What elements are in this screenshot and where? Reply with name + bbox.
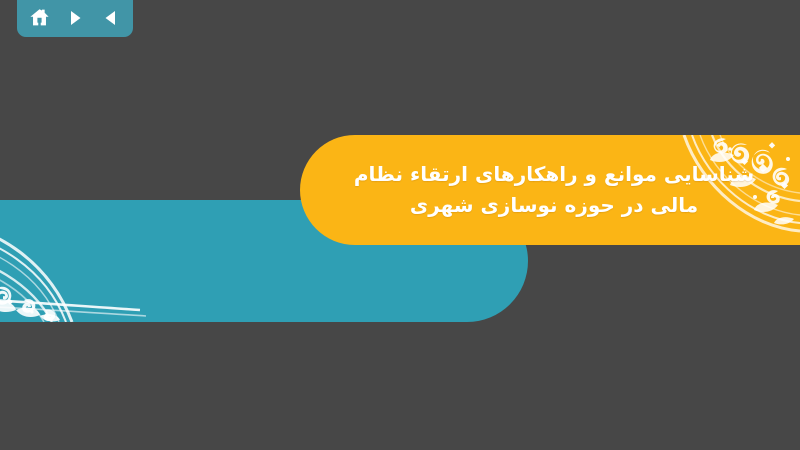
home-icon [29, 7, 50, 28]
previous-slide-button[interactable] [98, 5, 124, 31]
home-button[interactable] [26, 5, 52, 31]
forward-arrow-icon [66, 9, 84, 27]
arabesque-floral-ornament [0, 200, 170, 322]
back-arrow-icon [102, 9, 120, 27]
presentation-slide: شناسایی موانع و راهکارهای ارتقاء نظام ما… [0, 0, 800, 450]
next-slide-button[interactable] [62, 5, 88, 31]
slide-title-block: شناسایی موانع و راهکارهای ارتقاء نظام ما… [300, 135, 800, 245]
title-line-1: شناسایی موانع و راهکارهای ارتقاء نظام [354, 159, 754, 190]
title-line-2: مالی در حوزه نوسازی شهری [410, 190, 698, 221]
orange-title-banner: شناسایی موانع و راهکارهای ارتقاء نظام ما… [300, 135, 800, 245]
slide-navigation-bar [17, 0, 133, 37]
